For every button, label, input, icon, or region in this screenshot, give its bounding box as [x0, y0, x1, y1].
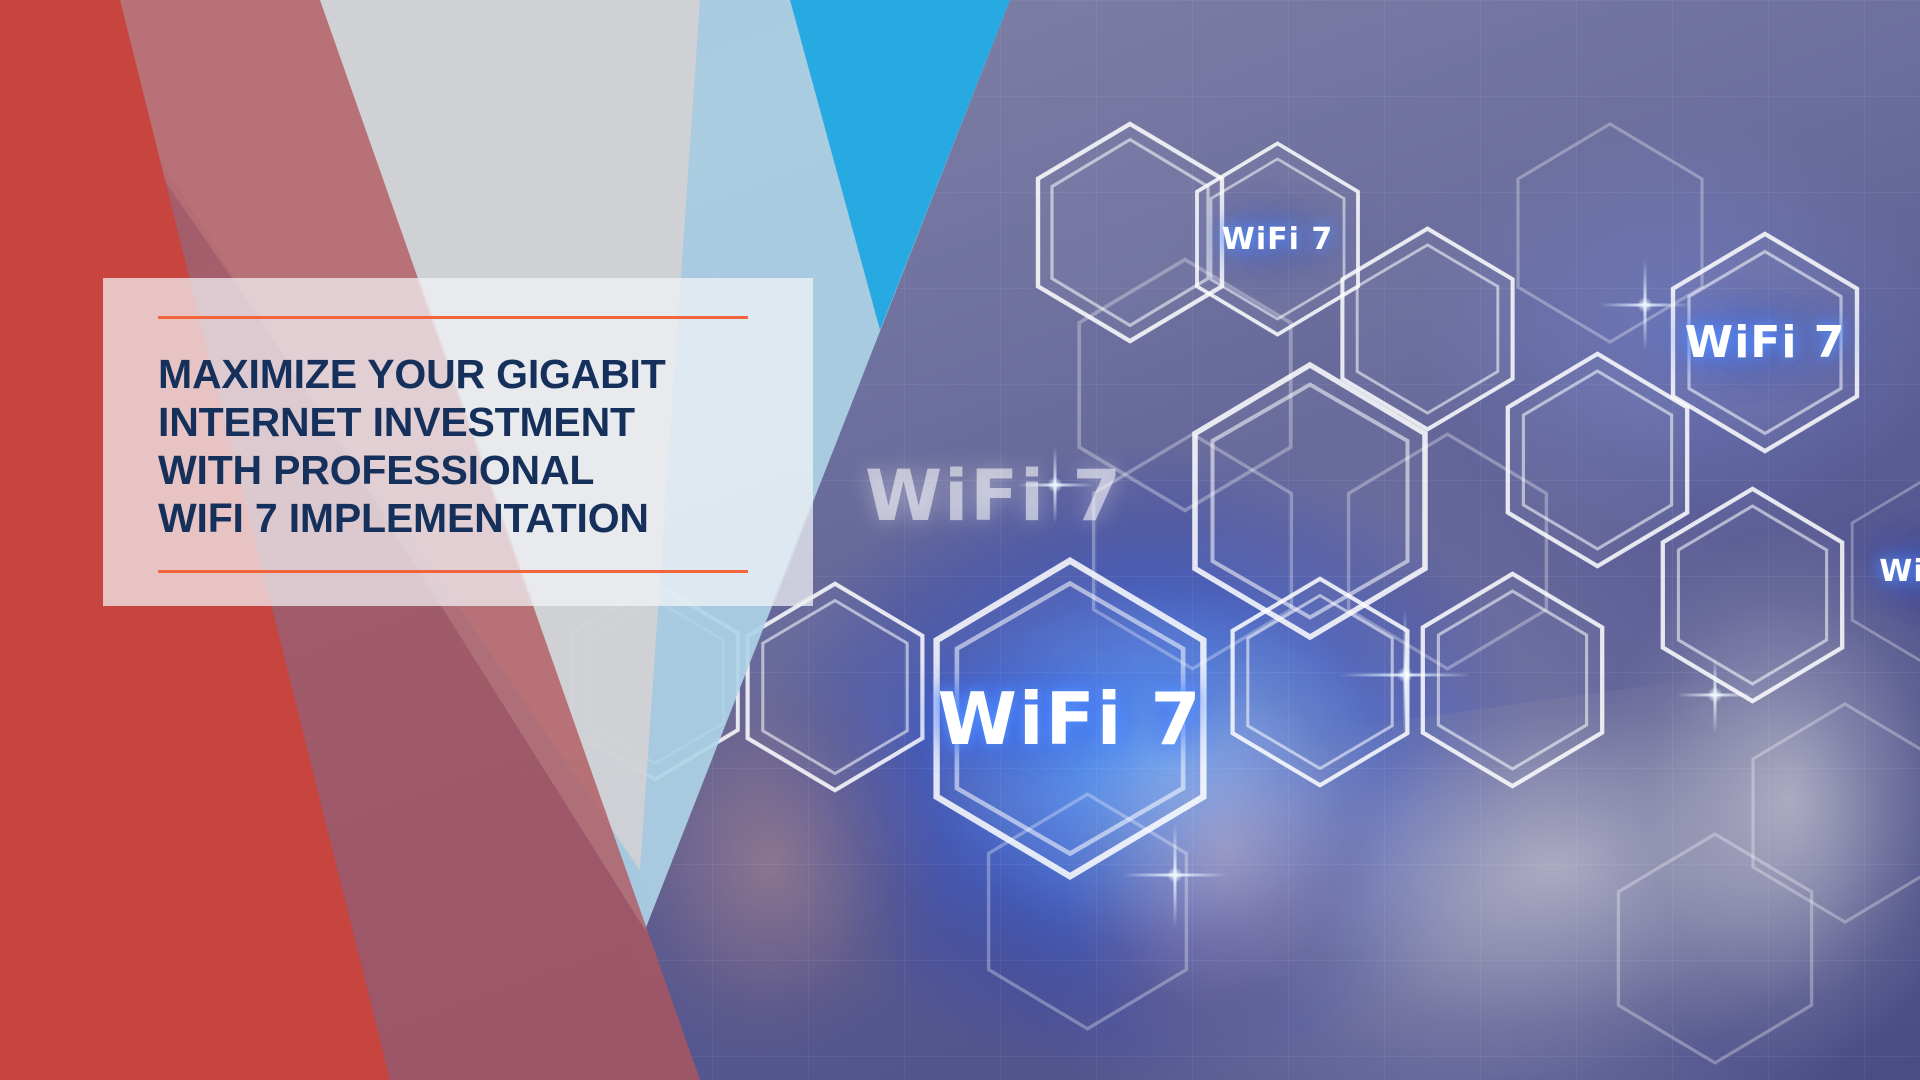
- svg-text:AI: AI: [1339, 521, 1358, 542]
- decorative-hexagon: [980, 790, 1195, 1033]
- decorative-hexagon: [1340, 430, 1555, 673]
- hexagon-outline: [1610, 830, 1820, 1067]
- decorative-hexagon: [1510, 120, 1710, 346]
- hexagon-outline: [1510, 120, 1710, 346]
- decorative-hexagon: [1610, 830, 1820, 1067]
- page-title: MAXIMIZE YOUR GIGABIT INTERNET INVESTMEN…: [158, 350, 778, 542]
- hexagon-outline: [1085, 430, 1300, 673]
- hexagon-outline: [740, 580, 930, 794]
- wifi7-main-label: WiFi 7: [937, 677, 1202, 761]
- wifi-signal-mid-hex[interactable]: [740, 580, 930, 794]
- headline-card: MAXIMIZE YOUR GIGABIT INTERNET INVESTMEN…: [103, 278, 813, 606]
- decorative-hexagon: [1085, 430, 1300, 673]
- lock-hex[interactable]: [565, 580, 745, 783]
- divider-top: [158, 316, 748, 319]
- wifi7-badge-edge-hex[interactable]: WiFi 7: [1845, 470, 1920, 673]
- hexagon-outline: [1655, 485, 1850, 705]
- document-hex[interactable]: [1655, 485, 1850, 705]
- banner-root: WiFi 7 WiFi 7: [0, 0, 1920, 1080]
- hexagon-outline: [1340, 430, 1555, 673]
- wifi7-badge-label: WiFi 7: [1222, 222, 1333, 257]
- wifi7-badge-label: WiFi 7: [1685, 317, 1846, 368]
- wifi7-badge-label: WiFi 7: [1879, 554, 1920, 589]
- hexagon-outline: [565, 580, 745, 783]
- divider-bottom: [158, 570, 748, 573]
- hexagon-outline: [980, 790, 1195, 1033]
